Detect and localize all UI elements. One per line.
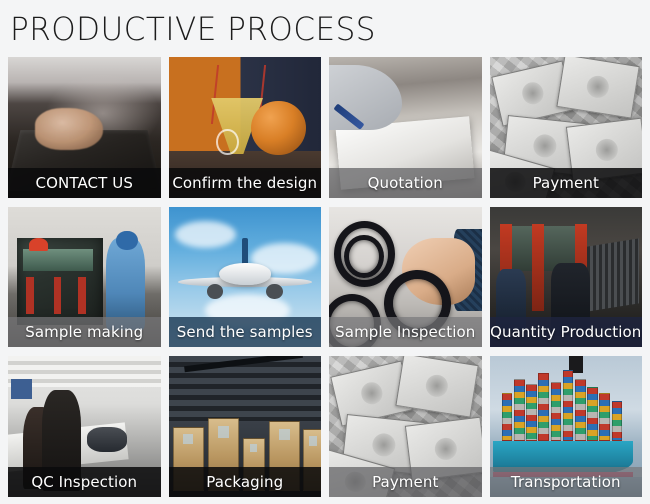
process-step-send-the-samples[interactable]: Send the samples [169,207,322,348]
airplane-engine [266,284,283,299]
cloud-shape [175,221,236,248]
process-step-payment-first[interactable]: Payment [490,57,643,198]
arm-shape [329,65,402,130]
process-step-payment-second[interactable]: Payment [329,356,482,497]
process-step-sample-inspection[interactable]: Sample Inspection [329,207,482,348]
shipping-container-stack [575,379,586,441]
step-caption: Send the samples [169,317,322,347]
press-pillar [532,224,544,311]
step-caption: Sample making [8,317,161,347]
blue-bin [11,379,32,399]
process-step-transportation[interactable]: Transportation [490,356,643,497]
step-caption: Sample Inspection [329,317,482,347]
process-step-qc-inspection[interactable]: QC Inspection [8,356,161,497]
shipping-container-stack [599,393,610,441]
machine-piston [26,277,34,314]
step-caption: QC Inspection [8,467,161,497]
shipping-container-stack [538,373,549,441]
airplane-fuselage [219,263,271,286]
machine-piston [78,277,86,314]
shipping-container-stack [551,382,562,441]
step-caption: Quotation [329,168,482,198]
step-caption: Quantity Production [490,317,643,347]
shipping-container-stack [587,387,598,440]
design-ring-shape [216,129,239,156]
coil-ring [344,235,384,279]
step-caption: Confirm the design [169,168,322,198]
step-caption: Transportation [490,467,643,497]
shipping-container-stack [526,384,537,440]
process-step-quotation[interactable]: Quotation [329,57,482,198]
page-title: PRODUCTIVE PROCESS [10,9,376,49]
process-step-contact-us[interactable]: CONTACT US [8,57,161,198]
design-sphere-shape [251,101,306,156]
machine-piston [54,277,62,314]
shipping-container-stack [502,393,513,441]
process-grid: CONTACT US Confirm the design Quotation [8,57,642,497]
step-caption: Payment [329,467,482,497]
worker-head [116,231,137,251]
process-step-quantity-production[interactable]: Quantity Production [490,207,643,348]
step-caption: Packaging [169,467,322,497]
process-step-confirm-the-design[interactable]: Confirm the design [169,57,322,198]
step-caption: CONTACT US [8,168,161,198]
process-step-sample-making[interactable]: Sample making [8,207,161,348]
garment-pile [87,427,127,452]
shipping-container-stack [514,379,525,441]
machine-panel [23,249,93,272]
process-step-packaging[interactable]: Packaging [169,356,322,497]
step-caption: Payment [490,168,643,198]
safety-helmet-icon [29,238,47,252]
shipping-container-stack [563,370,574,440]
shipping-container-stack [612,401,623,440]
